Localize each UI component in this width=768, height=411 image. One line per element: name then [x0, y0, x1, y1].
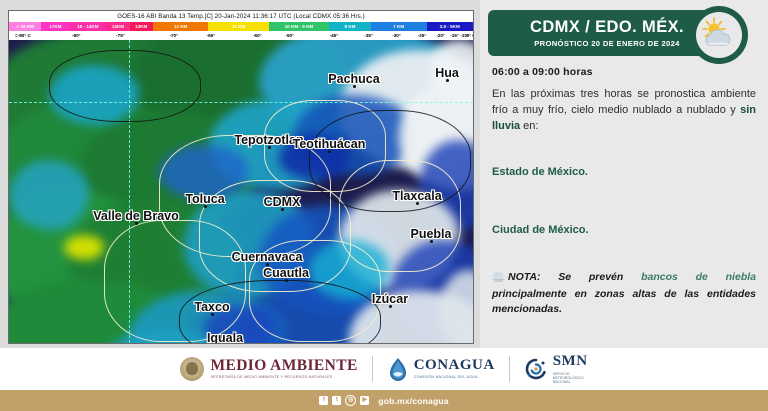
city-label: CDMX: [264, 195, 301, 209]
city-marker: [211, 313, 214, 316]
cloud-region: [64, 235, 104, 260]
city-marker: [204, 205, 207, 208]
sun-cloud-glyph: [699, 15, 739, 55]
forecast-info-panel: CDMX / EDO. MÉX. PRONÓSTICO 20 DE ENERO …: [480, 0, 768, 348]
note-highlight: bancos de niebla: [641, 271, 756, 283]
scale-segment: 8 KM: [329, 22, 371, 31]
instagram-icon[interactable]: ◎: [345, 395, 356, 406]
temperature-tick: -65°: [207, 31, 215, 40]
temperature-tick: -80°: [72, 31, 80, 40]
temperature-tick: -25°: [418, 31, 426, 40]
temperature-tick: -20°: [436, 31, 444, 40]
logo-divider-2: [509, 356, 510, 382]
cloud-region: [9, 160, 89, 230]
scale-segment: 12 KM: [153, 22, 209, 31]
temperature-tick: -50°: [285, 31, 293, 40]
city-label: Puebla: [411, 227, 452, 241]
temperature-tick: -35°: [364, 31, 372, 40]
forecast-body-text: En las próximas tres horas se pronostica…: [492, 86, 756, 134]
website-url[interactable]: gob.mx/conagua: [378, 396, 448, 406]
city-label: Toluca: [185, 192, 224, 206]
region-ciudad-de-mexico: Ciudad de México.: [492, 224, 589, 236]
coast-boundary: [49, 50, 201, 122]
satellite-image-frame[interactable]: GOES-16 ABI Banda 13 Temp.[C] 20-Jan-202…: [8, 10, 474, 344]
fog-icon: [492, 272, 505, 287]
temperature-tick: -60°: [253, 31, 261, 40]
temperature-tick-labels: =-80° C-80°-75°-70°-65°-60°-50°-45°-35°-…: [9, 31, 473, 40]
city-marker: [353, 85, 356, 88]
conagua-title: CONAGUA: [414, 358, 495, 373]
temperature-tick: -45°: [330, 31, 338, 40]
note-text-after: principalmente en zonas altas de las ent…: [492, 288, 756, 315]
scale-segment: 3.5 - 5KM: [427, 22, 473, 31]
city-label: Hua: [435, 66, 459, 80]
smn-subtitle: SERVICIO METEOROLÓGICO NACIONAL: [553, 372, 587, 384]
city-label: Valle de Bravo: [93, 209, 178, 223]
medio-ambiente-subtitle: SECRETARÍA DE MEDIO AMBIENTE Y RECURSOS …: [210, 376, 357, 380]
temperature-tick: =-80° C: [15, 31, 31, 40]
medio-ambiente-title: MEDIO AMBIENTE: [210, 358, 357, 374]
temperature-tick: -30°: [392, 31, 400, 40]
city-marker: [389, 305, 392, 308]
city-label: Iguala: [207, 331, 243, 344]
smn-title: SMN: [553, 354, 588, 369]
scale-segment: 11 KM: [208, 22, 268, 31]
forecast-time-range: 06:00 a 09:00 horas: [492, 66, 593, 78]
city-marker: [281, 208, 284, 211]
twitter-icon[interactable]: t: [332, 396, 341, 405]
city-label: Cuautla: [263, 266, 309, 280]
sun-behind-cloud-icon: [690, 6, 748, 64]
city-marker: [328, 150, 331, 153]
city-marker: [268, 146, 271, 149]
facebook-icon[interactable]: f: [319, 396, 328, 405]
scale-segment: 16 - 14KM: [69, 22, 106, 31]
temperature-color-scale: > 18 KM17KM16 - 14KM14KM13KM12 KM11 KM10…: [9, 22, 473, 31]
city-marker: [430, 240, 433, 243]
city-marker: [135, 222, 138, 225]
temperature-tick: 0° C: [467, 31, 474, 40]
mexico-eagle-seal-icon: [180, 357, 204, 381]
city-label: Pachuca: [328, 72, 379, 86]
page-title: CDMX / EDO. MÉX.: [530, 18, 684, 36]
scale-segment: 7 KM: [371, 22, 427, 31]
forecast-text-part1: En las próximas tres horas se pronostica…: [492, 88, 756, 116]
city-marker: [446, 79, 449, 82]
footer-logos: MEDIO AMBIENTE SECRETARÍA DE MEDIO AMBIE…: [0, 348, 768, 390]
note-text: NOTA: Se prevén bancos de niebla princip…: [492, 270, 756, 317]
city-label: Izúcar: [372, 292, 408, 306]
logo-smn: SMN SERVICIO METEOROLÓGICO NACIONAL: [524, 354, 588, 384]
temperature-tick: -75°: [116, 31, 124, 40]
temperature-tick: -70°: [169, 31, 177, 40]
page-subtitle: PRONÓSTICO 20 DE ENERO DE 2024: [534, 39, 680, 48]
city-label: Cuernavaca: [232, 250, 303, 264]
city-marker: [285, 279, 288, 282]
scale-segment: 13KM: [130, 22, 153, 31]
scale-segment: > 18 KM: [9, 22, 41, 31]
forecast-text-part2: en:: [520, 120, 538, 132]
city-label: Taxco: [194, 300, 229, 314]
conagua-subtitle: COMISIÓN NACIONAL DEL AGUA: [414, 376, 495, 380]
social-bar: f t ◎ ▶ gob.mx/conagua: [0, 390, 768, 411]
logo-divider-1: [372, 356, 373, 382]
note-label: NOTA:: [508, 271, 540, 283]
smn-spiral-icon: [524, 357, 548, 381]
scale-segment: 10 KM - 9 KM: [269, 22, 329, 31]
temperature-tick: -15°: [450, 31, 458, 40]
satellite-panel: GOES-16 ABI Banda 13 Temp.[C] 20-Jan-202…: [0, 0, 480, 348]
scale-segment: 17KM: [41, 22, 69, 31]
weather-icon-disc: [696, 12, 742, 58]
city-label: Tlaxcala: [392, 189, 441, 203]
scale-segment: 14KM: [106, 22, 129, 31]
coast-boundary: [309, 110, 471, 212]
region-estado-de-mexico: Estado de México.: [492, 166, 588, 178]
youtube-icon[interactable]: ▶: [360, 396, 369, 405]
city-marker: [416, 202, 419, 205]
satellite-product-title: GOES-16 ABI Banda 13 Temp.[C] 20-Jan-202…: [9, 11, 473, 22]
note-text-before: Se prevén: [540, 271, 641, 283]
city-label: Teotihuácan: [293, 137, 366, 151]
logo-medio-ambiente: MEDIO AMBIENTE SECRETARÍA DE MEDIO AMBIE…: [180, 357, 357, 381]
conagua-water-icon: [387, 357, 409, 381]
logo-conagua: CONAGUA COMISIÓN NACIONAL DEL AGUA: [387, 357, 495, 381]
